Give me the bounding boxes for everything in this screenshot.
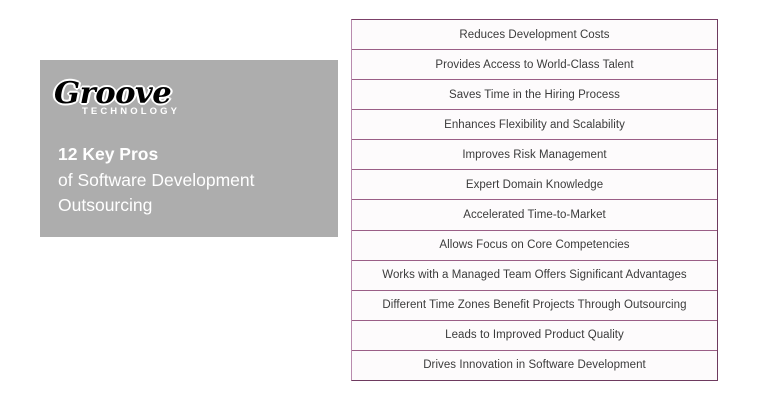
table-row: Works with a Managed Team Offers Signifi… — [352, 261, 717, 291]
table-row-label: Expert Domain Knowledge — [466, 179, 603, 191]
table-row-label: Accelerated Time-to-Market — [463, 209, 606, 221]
table-row: Expert Domain Knowledge — [352, 170, 717, 200]
brand-wordmark: Groove — [54, 78, 187, 110]
table-row: Leads to Improved Product Quality — [352, 321, 717, 351]
table-row: Provides Access to World-Class Talent — [352, 50, 717, 80]
table-row-label: Different Time Zones Benefit Projects Th… — [382, 299, 686, 311]
groove-technology-logo: Groove TECHNOLOGY — [54, 78, 184, 128]
title-panel: Groove TECHNOLOGY 12 Key Pros of Softwar… — [40, 60, 338, 237]
table-row-label: Improves Risk Management — [462, 149, 606, 161]
table-row: Allows Focus on Core Competencies — [352, 231, 717, 261]
table-row-label: Saves Time in the Hiring Process — [449, 89, 620, 101]
table-row-label: Leads to Improved Product Quality — [445, 329, 624, 341]
table-row: Drives Innovation in Software Developmen… — [352, 351, 717, 380]
table-row: Accelerated Time-to-Market — [352, 200, 717, 230]
page-title-line-1: 12 Key Pros — [58, 142, 318, 168]
table-row-label: Provides Access to World-Class Talent — [435, 59, 633, 71]
table-row: Reduces Development Costs — [352, 20, 717, 50]
table-row: Saves Time in the Hiring Process — [352, 80, 717, 110]
table-row-label: Reduces Development Costs — [459, 29, 609, 41]
pros-table: Reduces Development Costs Provides Acces… — [351, 19, 718, 381]
page-title-line-2: of Software Development — [58, 168, 318, 194]
table-row-label: Enhances Flexibility and Scalability — [444, 119, 625, 131]
page-title-line-3: Outsourcing — [58, 193, 318, 219]
table-row: Different Time Zones Benefit Projects Th… — [352, 291, 717, 321]
table-row-label: Drives Innovation in Software Developmen… — [423, 359, 646, 371]
table-row: Improves Risk Management — [352, 140, 717, 170]
table-row: Enhances Flexibility and Scalability — [352, 110, 717, 140]
page-title: 12 Key Pros of Software Development Outs… — [54, 142, 318, 219]
table-row-label: Works with a Managed Team Offers Signifi… — [382, 269, 686, 281]
table-row-label: Allows Focus on Core Competencies — [439, 239, 629, 251]
